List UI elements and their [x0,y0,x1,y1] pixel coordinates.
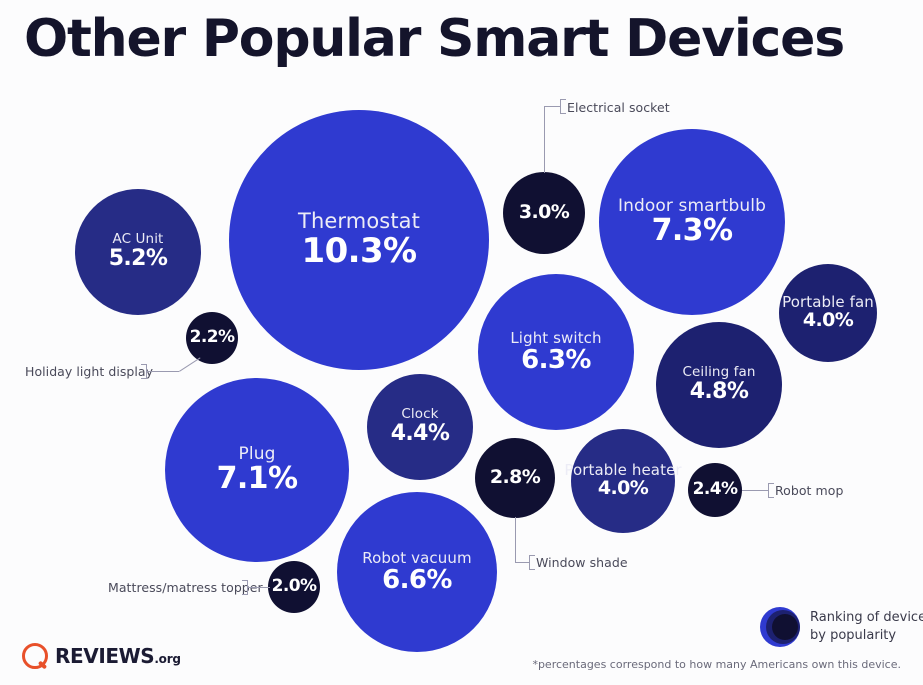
leader-line-electrical-socket [544,106,545,173]
bubble-label: Robot vacuum [362,551,471,566]
bubble-holiday-light-display[interactable]: 2.2% [186,312,238,364]
bubble-ceiling-fan[interactable]: Ceiling fan 4.8% [656,322,782,448]
bubble-value: 2.4% [693,481,738,498]
bubble-value: 10.3% [302,234,417,269]
infographic-canvas: Other Popular Smart Devices Thermostat 1… [0,0,923,685]
bracket-electrical-socket [560,99,566,114]
bubble-label: Portable heater [564,463,681,478]
legend-text-block: Ranking of devices by popularity [810,609,923,644]
legend-line-1: Ranking of devices [810,609,923,627]
bubble-value: 3.0% [519,203,569,222]
bubble-portable-fan[interactable]: Portable fan 4.0% [779,264,877,362]
bubble-robot-mop[interactable]: 2.4% [688,463,742,517]
leader-line-electrical-socket-h [544,106,560,107]
bubble-value: 4.0% [803,311,853,330]
bubble-value: 7.3% [652,216,733,247]
bubble-value: 5.2% [109,248,168,270]
bubble-value: 6.3% [521,347,591,374]
bubble-value: 4.0% [598,479,648,498]
bubble-electrical-socket[interactable]: 3.0% [503,172,585,254]
bubble-value: 6.6% [382,567,452,594]
bubble-clock[interactable]: Clock 4.4% [367,374,473,480]
callout-label-electrical-socket: Electrical socket [567,100,670,115]
bubble-plug[interactable]: Plug 7.1% [165,378,349,562]
bubble-label: Light switch [510,331,601,346]
bracket-window-shade [529,555,535,570]
bubble-thermostat[interactable]: Thermostat 10.3% [229,110,489,370]
callout-label-holiday-light-display: Holiday light display [25,364,153,379]
legend: Ranking of devices by popularity [760,607,923,647]
bubble-value: 4.8% [690,381,749,403]
bubble-light-switch[interactable]: Light switch 6.3% [478,274,634,430]
bubble-label: AC Unit [113,233,164,247]
leader-line-mattress-topper [248,587,270,588]
leader-line-window-shade-h [515,562,529,563]
bubble-value: 4.4% [391,423,450,445]
leader-line-holiday-light-diag [179,357,201,371]
bubble-portable-heater[interactable]: Portable heater 4.0% [571,429,675,533]
logo-tld: .org [154,652,181,666]
bubble-robot-vacuum[interactable]: Robot vacuum 6.6% [337,492,497,652]
bubble-label: Ceiling fan [682,366,755,380]
logo-name: REVIEWS [55,644,154,668]
bubble-indoor-smartbulb[interactable]: Indoor smartbulb 7.3% [599,129,785,315]
callout-label-mattress-topper: Mattress/matress topper [108,580,263,595]
leader-line-window-shade [515,517,516,562]
bubble-value: 2.2% [190,329,235,346]
leader-line-robot-mop [742,490,768,491]
bubble-window-shade[interactable]: 2.8% [475,438,555,518]
bubble-label: Thermostat [298,211,420,232]
legend-ranking-icon [760,607,800,647]
callout-label-robot-mop: Robot mop [775,483,843,498]
bracket-robot-mop [768,483,774,498]
bubble-label: Portable fan [782,295,874,310]
logo-wordmark: REVIEWS.org [55,644,181,668]
bubble-value: 2.0% [272,578,317,595]
bubble-value: 2.8% [490,468,540,487]
bubble-mattress-topper[interactable]: 2.0% [268,561,320,613]
bubble-ac-unit[interactable]: AC Unit 5.2% [75,189,201,315]
reviews-org-logo[interactable]: REVIEWS.org [22,643,181,669]
footnote: *percentages correspond to how many Amer… [532,658,901,671]
callout-label-window-shade: Window shade [536,555,628,570]
page-title: Other Popular Smart Devices [24,10,844,70]
q-mark-icon [22,643,48,669]
bubble-value: 7.1% [217,464,298,495]
legend-line-2: by popularity [810,627,923,645]
leader-line-holiday-light-h [147,371,179,372]
bubble-label: Clock [401,408,438,422]
